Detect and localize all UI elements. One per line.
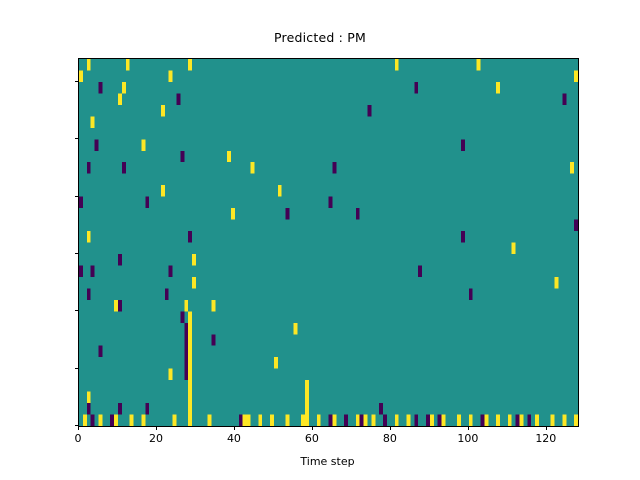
heatmap-cell bbox=[469, 288, 473, 299]
heatmap-cell bbox=[329, 197, 333, 208]
heatmap-cell bbox=[161, 185, 165, 196]
heatmap-cell bbox=[535, 415, 539, 426]
heatmap-cell bbox=[496, 415, 500, 426]
x-tick-label: 0 bbox=[75, 432, 82, 445]
x-tick-mark bbox=[156, 426, 157, 430]
heatmap-cell bbox=[332, 415, 336, 426]
heatmap-cell bbox=[122, 162, 126, 173]
heatmap-cell bbox=[562, 93, 566, 104]
x-tick-label: 100 bbox=[457, 432, 478, 445]
heatmap-cell bbox=[184, 300, 188, 311]
heatmap-cell bbox=[180, 311, 184, 322]
x-axis-label: Time step bbox=[78, 455, 577, 468]
heatmap-cell bbox=[395, 59, 399, 70]
x-tick-label: 40 bbox=[227, 432, 241, 445]
heatmap-cell bbox=[574, 220, 578, 231]
heatmap-cell bbox=[87, 288, 91, 299]
heatmap-cell bbox=[329, 415, 333, 426]
heatmap-cell bbox=[247, 415, 251, 426]
x-tick-mark bbox=[468, 426, 469, 430]
heatmap-cell bbox=[484, 415, 488, 426]
heatmap-cell bbox=[469, 415, 473, 426]
heatmap-cell bbox=[118, 300, 122, 311]
heatmap-cell bbox=[212, 300, 216, 311]
heatmap-cell bbox=[184, 369, 188, 380]
heatmap-cell bbox=[270, 415, 274, 426]
x-tick-label: 60 bbox=[305, 432, 319, 445]
heatmap-cell bbox=[83, 415, 87, 426]
heatmap-cell bbox=[169, 70, 173, 81]
y-tick-mark bbox=[75, 253, 79, 254]
heatmap-cell bbox=[305, 415, 309, 426]
heatmap-cell bbox=[208, 415, 212, 426]
heatmap-cell bbox=[508, 415, 512, 426]
heatmap-cell bbox=[426, 415, 430, 426]
heatmap-cell bbox=[457, 415, 461, 426]
heatmap-cell bbox=[87, 392, 91, 403]
heatmap-cell bbox=[239, 415, 243, 426]
heatmap-cell bbox=[527, 415, 531, 426]
heatmap-cell bbox=[356, 415, 360, 426]
heatmap-cell bbox=[212, 334, 216, 345]
figure-canvas: Predicted : PM Frequency (Hz) Time step … bbox=[0, 0, 640, 480]
heatmap-cell bbox=[551, 415, 555, 426]
heatmap-cell bbox=[286, 415, 290, 426]
chart-title: Predicted : PM bbox=[0, 30, 640, 45]
heatmap-cell bbox=[227, 151, 231, 162]
heatmap-cell bbox=[512, 243, 516, 254]
heatmap-cell bbox=[91, 265, 95, 276]
heatmap-cell bbox=[383, 415, 387, 426]
x-tick-mark bbox=[390, 426, 391, 430]
heatmap-cell bbox=[87, 231, 91, 242]
heatmap-cell bbox=[278, 185, 282, 196]
heatmap-cell bbox=[231, 208, 235, 219]
heatmap-cell bbox=[188, 403, 192, 414]
heatmap-cell bbox=[176, 93, 180, 104]
heatmap-cell bbox=[438, 415, 442, 426]
heatmap-cell bbox=[145, 197, 149, 208]
heatmap-cell bbox=[574, 415, 578, 426]
heatmap-cell bbox=[87, 403, 91, 414]
heatmap-cell bbox=[461, 139, 465, 150]
heatmap-cell bbox=[161, 105, 165, 116]
heatmap-cell bbox=[562, 415, 566, 426]
heatmap-cell bbox=[520, 415, 524, 426]
heatmap-cell bbox=[141, 415, 145, 426]
heatmap-cell bbox=[165, 288, 169, 299]
heatmap-cell bbox=[317, 415, 321, 426]
heatmap-cell bbox=[188, 59, 192, 70]
heatmap-cell bbox=[251, 162, 255, 173]
x-tick-label: 20 bbox=[149, 432, 163, 445]
heatmap-cell bbox=[430, 415, 434, 426]
heatmap-cell bbox=[118, 93, 122, 104]
heatmap-cell bbox=[91, 116, 95, 127]
heatmap-cell bbox=[481, 415, 485, 426]
y-tick-mark bbox=[75, 138, 79, 139]
heatmap-plot-area bbox=[78, 58, 579, 427]
heatmap-cell bbox=[188, 369, 192, 380]
heatmap-cell bbox=[414, 415, 418, 426]
heatmap-cell bbox=[516, 415, 520, 426]
heatmap-cell bbox=[188, 392, 192, 403]
heatmap-cell bbox=[118, 254, 122, 265]
heatmap-cell bbox=[188, 323, 192, 334]
heatmap-cell bbox=[184, 346, 188, 357]
y-tick-mark bbox=[75, 81, 79, 82]
heatmap-cell bbox=[173, 415, 177, 426]
heatmap-cell bbox=[461, 231, 465, 242]
heatmap-cell bbox=[395, 415, 399, 426]
heatmap-cell bbox=[141, 139, 145, 150]
heatmap-cell bbox=[95, 139, 99, 150]
heatmap-cell bbox=[344, 415, 348, 426]
x-tick-mark bbox=[234, 426, 235, 430]
heatmap-cell bbox=[126, 59, 130, 70]
heatmap-cell bbox=[169, 265, 173, 276]
heatmap-cell bbox=[180, 151, 184, 162]
heatmap-cell bbox=[305, 403, 309, 414]
heatmap-cell bbox=[118, 403, 122, 414]
heatmap-cell bbox=[192, 254, 196, 265]
heatmap-cell bbox=[98, 415, 102, 426]
heatmap-cell bbox=[114, 415, 118, 426]
heatmap-cell bbox=[169, 369, 173, 380]
heatmap-cell bbox=[371, 415, 375, 426]
heatmap-cell bbox=[305, 392, 309, 403]
heatmap-cell bbox=[188, 357, 192, 368]
heatmap-cell bbox=[367, 105, 371, 116]
heatmap-cell bbox=[188, 415, 192, 426]
heatmap-cell bbox=[293, 323, 297, 334]
heatmap-grid bbox=[79, 59, 578, 426]
heatmap-cell bbox=[574, 70, 578, 81]
heatmap-cell bbox=[356, 208, 360, 219]
heatmap-cell bbox=[122, 82, 126, 93]
heatmap-background bbox=[79, 59, 578, 426]
heatmap-cell bbox=[570, 162, 574, 173]
x-tick-mark bbox=[312, 426, 313, 430]
heatmap-cell bbox=[258, 415, 262, 426]
heatmap-cell bbox=[305, 380, 309, 391]
heatmap-cell bbox=[360, 415, 364, 426]
heatmap-cell bbox=[406, 415, 410, 426]
heatmap-cell bbox=[98, 346, 102, 357]
heatmap-cell bbox=[98, 82, 102, 93]
heatmap-cell bbox=[130, 415, 134, 426]
y-tick-mark bbox=[75, 310, 79, 311]
heatmap-cell bbox=[243, 415, 247, 426]
x-tick-mark bbox=[546, 426, 547, 430]
heatmap-cell bbox=[301, 415, 305, 426]
heatmap-cell bbox=[114, 300, 118, 311]
heatmap-cell bbox=[87, 59, 91, 70]
x-tick-label: 80 bbox=[383, 432, 397, 445]
x-tick-label: 120 bbox=[535, 432, 556, 445]
heatmap-cell bbox=[91, 415, 95, 426]
heatmap-cell bbox=[442, 415, 446, 426]
heatmap-cell bbox=[274, 357, 278, 368]
heatmap-cell bbox=[364, 415, 368, 426]
heatmap-cell bbox=[188, 380, 192, 391]
heatmap-cell bbox=[555, 277, 559, 288]
x-tick-mark bbox=[78, 426, 79, 430]
heatmap-cell bbox=[79, 197, 83, 208]
y-tick-mark bbox=[75, 196, 79, 197]
heatmap-cell bbox=[192, 277, 196, 288]
y-tick-mark bbox=[75, 368, 79, 369]
heatmap-cell bbox=[184, 334, 188, 345]
heatmap-cell bbox=[286, 208, 290, 219]
heatmap-cell bbox=[79, 265, 83, 276]
heatmap-cell bbox=[79, 70, 83, 81]
heatmap-cell bbox=[188, 334, 192, 345]
heatmap-cell bbox=[477, 59, 481, 70]
heatmap-cell bbox=[110, 415, 114, 426]
heatmap-cell bbox=[379, 403, 383, 414]
heatmap-cell bbox=[332, 162, 336, 173]
heatmap-cell bbox=[145, 403, 149, 414]
heatmap-cell bbox=[87, 162, 91, 173]
heatmap-cell bbox=[188, 311, 192, 322]
heatmap-cell bbox=[184, 323, 188, 334]
heatmap-cell bbox=[184, 357, 188, 368]
heatmap-cell bbox=[496, 82, 500, 93]
heatmap-cell bbox=[188, 231, 192, 242]
heatmap-cell bbox=[414, 82, 418, 93]
heatmap-cell bbox=[188, 346, 192, 357]
heatmap-cell bbox=[418, 265, 422, 276]
